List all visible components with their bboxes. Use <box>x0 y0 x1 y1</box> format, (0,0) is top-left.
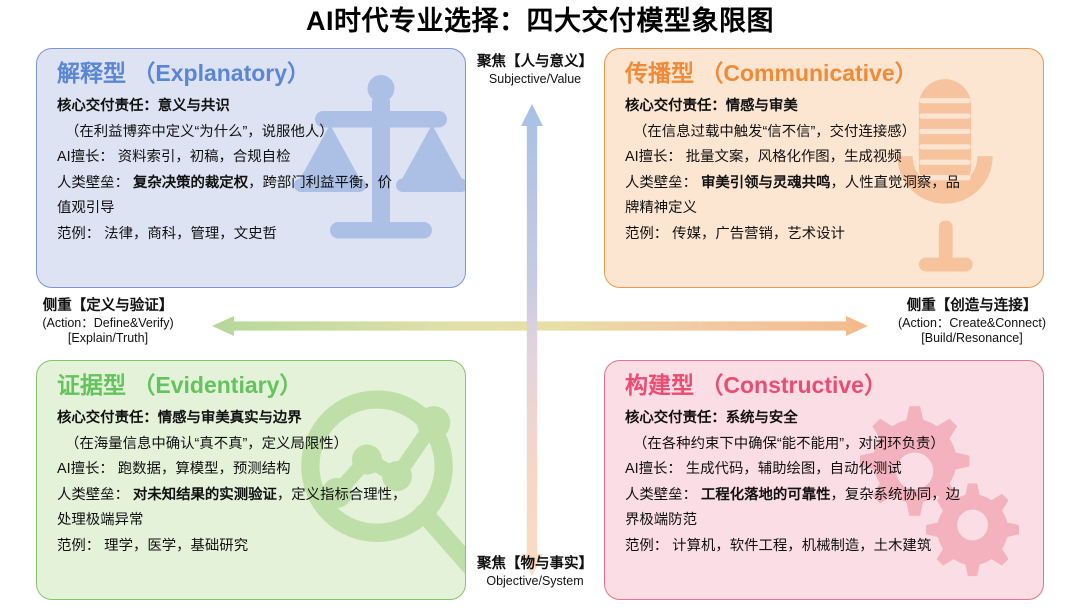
line-human-moat-cont: 值观引导 <box>57 196 449 222</box>
line-note: （在信息过载中触发“信不信”，交付连接感） <box>625 120 1027 146</box>
line-responsibility: 核心交付责任：情感与审美 <box>625 94 1027 120</box>
line-label: 范例： <box>57 226 100 242</box>
line-value: 计算机，软件工程，机械制造，土木建筑 <box>668 538 931 554</box>
line-value: 传媒，广告营销，艺术设计 <box>668 226 845 242</box>
line-note: （在各种约束下中确保“能不能用”，对闭环负责） <box>625 432 1027 458</box>
axis-caption-right-cn: 侧重【创造与连接】 <box>866 298 1078 316</box>
line-rest: ，复杂系统协同，边 <box>830 487 960 503</box>
line-bold-value: 工程化落地的可靠性 <box>697 487 831 503</box>
axis-caption-right-en: (Action：Create&Connect) <box>866 316 1078 331</box>
line-label: 人类壁垒： <box>57 175 129 191</box>
line-human-moat: 人类壁垒： 对未知结果的实测验证，定义指标合理性， <box>57 483 449 509</box>
line-rest: ，人性直觉洞察，品 <box>830 175 960 191</box>
card-heading-explanatory: 解释型 （Explanatory） <box>57 58 449 88</box>
line-label: AI擅长： <box>625 149 682 165</box>
line-value: 资料索引，初稿，合规自检 <box>114 149 291 165</box>
line-bold-value: 情感与审美真实与边界 <box>158 410 302 426</box>
quadrant-card-explanatory[interactable]: 解释型 （Explanatory） 核心交付责任：意义与共识 （在利益博弈中定义… <box>36 48 466 288</box>
line-examples: 范例： 传媒，广告营销，艺术设计 <box>625 222 1027 248</box>
axis-caption-top-en: Subjective/Value <box>455 72 615 87</box>
line-responsibility: 核心交付责任：系统与安全 <box>625 406 1027 432</box>
card-heading-cn: 证据型 <box>57 372 126 398</box>
card-heading-en: （Constructive） <box>700 372 887 398</box>
line-responsibility: 核心交付责任：情感与审美真实与边界 <box>57 406 449 432</box>
card-body-explanatory: 核心交付责任：意义与共识 （在利益博弈中定义“为什么”，说服他人） AI擅长： … <box>57 94 449 247</box>
line-label: 核心交付责任： <box>625 98 726 114</box>
line-bold-value: 情感与审美 <box>726 98 798 114</box>
axis-caption-left-en: (Action：Define&Verify) <box>8 316 208 331</box>
axis-caption-top: 聚焦【人与意义】 Subjective/Value <box>455 54 615 87</box>
line-human-moat: 人类壁垒： 工程化落地的可靠性，复杂系统协同，边 <box>625 483 1027 509</box>
card-body-evidentiary: 核心交付责任：情感与审美真实与边界 （在海量信息中确认“真不真”，定义局限性） … <box>57 406 449 559</box>
line-human-moat-cont: 界极端防范 <box>625 508 1027 534</box>
line-value: 法律，商科，管理，文史哲 <box>100 226 277 242</box>
line-label: 人类壁垒： <box>57 487 129 503</box>
line-ai-strength: AI擅长： 资料索引，初稿，合规自检 <box>57 145 449 171</box>
line-bold-value: 系统与安全 <box>726 410 798 426</box>
line-label: 人类壁垒： <box>625 487 697 503</box>
line-note: （在海量信息中确认“真不真”，定义局限性） <box>57 432 449 458</box>
card-heading-constructive: 构建型 （Constructive） <box>625 370 1027 400</box>
card-heading-cn: 构建型 <box>625 372 694 398</box>
card-heading-cn: 解释型 <box>57 60 126 86</box>
line-label: AI擅长： <box>57 149 114 165</box>
line-label: 范例： <box>625 538 668 554</box>
axis-caption-bottom-en: Objective/System <box>455 574 615 589</box>
quadrant-card-evidentiary[interactable]: 证据型 （Evidentiary） 核心交付责任：情感与审美真实与边界 （在海量… <box>36 360 466 600</box>
axis-caption-left-en2: [Explain/Truth] <box>8 331 208 346</box>
line-label: AI擅长： <box>57 461 114 477</box>
axis-caption-top-cn: 聚焦【人与意义】 <box>455 54 615 72</box>
line-value: 理学，医学，基础研究 <box>100 538 248 554</box>
axis-caption-right: 侧重【创造与连接】 (Action：Create&Connect) [Build… <box>866 298 1078 346</box>
line-examples: 范例： 理学，医学，基础研究 <box>57 534 449 560</box>
line-bold-value: 复杂决策的裁定权 <box>129 175 248 191</box>
card-body-communicative: 核心交付责任：情感与审美 （在信息过载中触发“信不信”，交付连接感） AI擅长：… <box>625 94 1027 247</box>
line-label: 核心交付责任： <box>57 410 158 426</box>
line-value: 批量文案，风格化作图，生成视频 <box>682 149 902 165</box>
line-examples: 范例： 法律，商科，管理，文史哲 <box>57 222 449 248</box>
card-heading-en: （Evidentiary） <box>132 372 302 398</box>
line-value: 跑数据，算模型，预测结构 <box>114 461 291 477</box>
quadrant-card-communicative[interactable]: 传播型 （Communicative） 核心交付责任：情感与审美 （在信息过载中… <box>604 48 1044 288</box>
line-label: AI擅长： <box>625 461 682 477</box>
axis-caption-bottom-cn: 聚焦【物与事实】 <box>455 556 615 574</box>
quadrant-card-constructive[interactable]: 构建型 （Constructive） 核心交付责任：系统与安全 （在各种约束下中… <box>604 360 1044 600</box>
line-bold-value: 对未知结果的实测验证 <box>129 487 277 503</box>
line-label: 范例： <box>57 538 100 554</box>
card-heading-evidentiary: 证据型 （Evidentiary） <box>57 370 449 400</box>
card-body-constructive: 核心交付责任：系统与安全 （在各种约束下中确保“能不能用”，对闭环负责） AI擅… <box>625 406 1027 559</box>
line-label: 核心交付责任： <box>625 410 726 426</box>
axis-caption-right-en2: [Build/Resonance] <box>866 331 1078 346</box>
line-responsibility: 核心交付责任：意义与共识 <box>57 94 449 120</box>
card-heading-cn: 传播型 <box>625 60 694 86</box>
line-rest: ，定义指标合理性， <box>277 487 407 503</box>
line-human-moat: 人类壁垒： 复杂决策的裁定权，跨部门利益平衡，价 <box>57 171 449 197</box>
axis-caption-left-cn: 侧重【定义与验证】 <box>8 298 208 316</box>
card-heading-en: （Explanatory） <box>132 60 310 86</box>
line-human-moat-cont: 处理极端异常 <box>57 508 449 534</box>
line-bold-value: 意义与共识 <box>158 98 230 114</box>
line-human-moat-cont: 牌精神定义 <box>625 196 1027 222</box>
card-heading-communicative: 传播型 （Communicative） <box>625 58 1027 88</box>
line-ai-strength: AI擅长： 批量文案，风格化作图，生成视频 <box>625 145 1027 171</box>
line-note: （在利益博弈中定义“为什么”，说服他人） <box>57 120 449 146</box>
line-ai-strength: AI擅长： 生成代码，辅助绘图，自动化测试 <box>625 457 1027 483</box>
line-bold-value: 审美引领与灵魂共鸣 <box>697 175 831 191</box>
line-examples: 范例： 计算机，软件工程，机械制造，土木建筑 <box>625 534 1027 560</box>
axis-caption-bottom: 聚焦【物与事实】 Objective/System <box>455 556 615 589</box>
axis-caption-left: 侧重【定义与验证】 (Action：Define&Verify) [Explai… <box>8 298 208 346</box>
page-title: AI时代专业选择：四大交付模型象限图 <box>0 2 1080 40</box>
line-label: 核心交付责任： <box>57 98 158 114</box>
vertical-double-arrow <box>521 104 543 576</box>
line-label: 范例： <box>625 226 668 242</box>
line-value: 生成代码，辅助绘图，自动化测试 <box>682 461 902 477</box>
card-heading-en: （Communicative） <box>700 60 917 86</box>
line-human-moat: 人类壁垒： 审美引领与灵魂共鸣，人性直觉洞察，品 <box>625 171 1027 197</box>
line-label: 人类壁垒： <box>625 175 697 191</box>
quadrant-diagram-canvas: AI时代专业选择：四大交付模型象限图 聚焦 <box>0 0 1080 608</box>
line-rest: ，跨部门利益平衡，价 <box>248 175 392 191</box>
line-ai-strength: AI擅长： 跑数据，算模型，预测结构 <box>57 457 449 483</box>
